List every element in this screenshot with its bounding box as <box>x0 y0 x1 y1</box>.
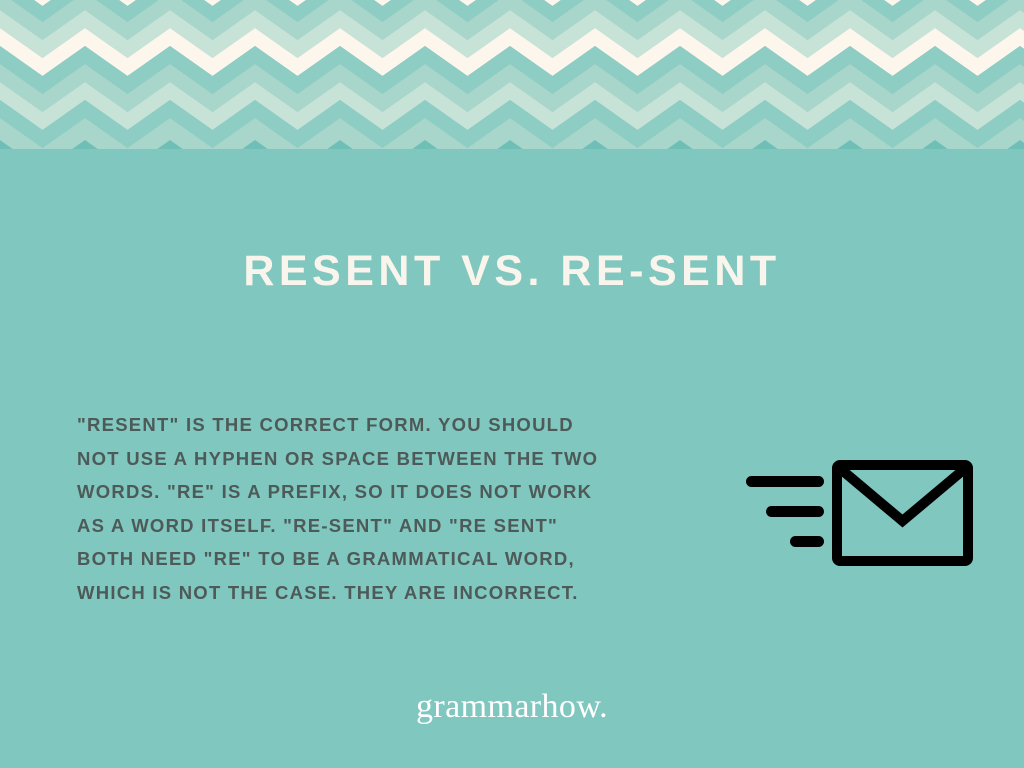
body-line: WORDS. "RE" IS A PREFIX, SO IT DOES NOT … <box>77 475 717 509</box>
motion-line-short-icon <box>790 536 824 547</box>
motion-line-long-icon <box>746 476 824 487</box>
brand-wordmark: grammarhow. <box>0 688 1024 725</box>
body-line: "RESENT" IS THE CORRECT FORM. YOU SHOULD <box>77 408 717 442</box>
body-line: BOTH NEED "RE" TO BE A GRAMMATICAL WORD, <box>77 542 717 576</box>
infographic-canvas: RESENT VS. RE-SENT "RESENT" IS THE CORRE… <box>0 0 1024 768</box>
body-line: NOT USE A HYPHEN OR SPACE BETWEEN THE TW… <box>77 442 717 476</box>
body-paragraph: "RESENT" IS THE CORRECT FORM. YOU SHOULD… <box>77 408 717 609</box>
page-title: RESENT VS. RE-SENT <box>0 248 1024 295</box>
motion-line-medium-icon <box>766 506 824 517</box>
body-line: AS A WORD ITSELF. "RE-SENT" AND "RE SENT… <box>77 509 717 543</box>
chevron-zigzag-pattern <box>0 0 1024 149</box>
envelope-flap-icon <box>843 471 962 521</box>
sent-envelope-icon <box>742 455 974 570</box>
body-line: WHICH IS NOT THE CASE. THEY ARE INCORREC… <box>77 576 717 610</box>
